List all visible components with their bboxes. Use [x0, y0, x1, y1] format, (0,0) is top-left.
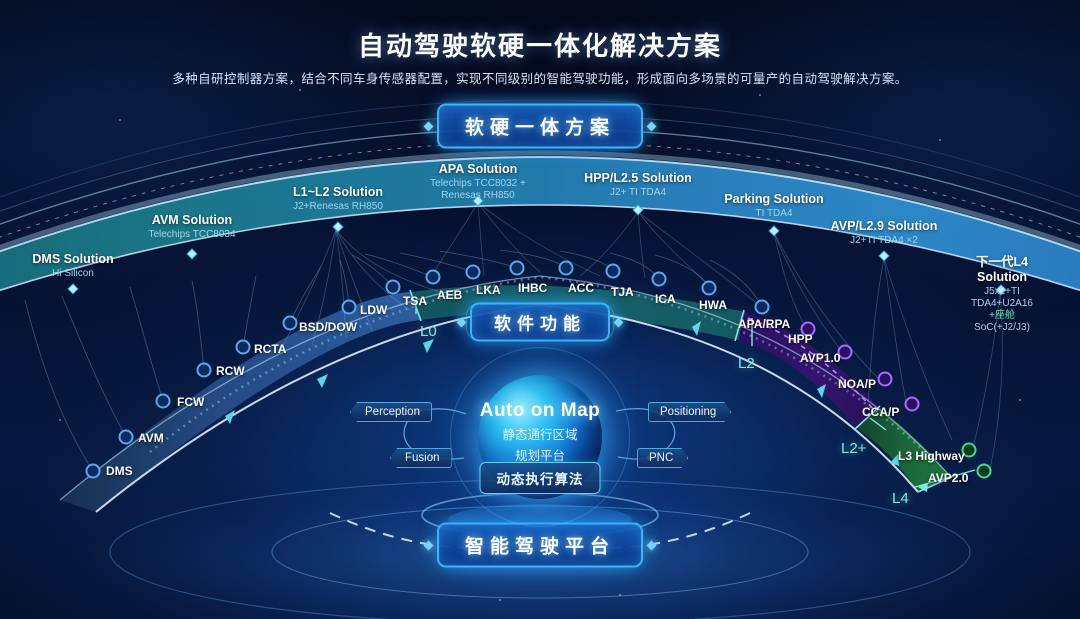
platform-module-tag: PNC: [637, 448, 688, 468]
function-node-label: HWA: [699, 298, 727, 312]
function-node-label: BSD/DOW: [299, 320, 357, 334]
function-node-label: AEB: [437, 288, 462, 302]
platform-module-tag: Perception: [350, 402, 432, 422]
function-node-label: IHBC: [518, 281, 547, 295]
autonomy-level-label: L0: [420, 323, 437, 340]
function-node-label: L3 Highway: [898, 449, 965, 463]
function-node-label: DMS: [106, 464, 133, 478]
function-node-label: TJA: [611, 285, 634, 299]
function-node-label: LKA: [476, 283, 501, 297]
function-node-label: RCW: [216, 364, 245, 378]
function-node-label: APA/RPA: [738, 317, 790, 331]
platform-module-tag: Fusion: [390, 448, 452, 468]
platform-title: Auto on Map: [425, 400, 655, 422]
sphere-text-block: Auto on Map 静态通行区域 规划平台: [425, 400, 655, 464]
autonomy-level-label: L4: [892, 490, 909, 507]
function-node-label: ICA: [655, 292, 676, 306]
infographic-canvas: 自动驾驶软硬一体化解决方案 多种自研控制器方案，结合不同车身传感器配置，实现不同…: [0, 0, 1080, 619]
function-node-label: LDW: [360, 303, 387, 317]
function-node-label: AVM: [138, 431, 164, 445]
dynamic-algorithm-tag: 动态执行算法: [480, 462, 601, 494]
autonomy-level-label: L2+: [841, 440, 866, 457]
function-node-label: TSA: [403, 294, 427, 308]
platform-module-tag: Positioning: [648, 402, 731, 422]
function-node-label: CCA/P: [862, 405, 899, 419]
function-node-label: NOA/P: [838, 377, 876, 391]
platform-line1: 静态通行区域: [425, 424, 655, 443]
function-node-label: ACC: [568, 281, 594, 295]
function-node-label: RCTA: [254, 342, 286, 356]
function-node-label: HPP: [788, 332, 813, 346]
autonomy-level-label: L2: [738, 355, 755, 372]
function-node-label: FCW: [177, 395, 204, 409]
function-node-label: AVP1.0: [800, 351, 840, 365]
function-node-label: AVP2.0: [928, 471, 968, 485]
